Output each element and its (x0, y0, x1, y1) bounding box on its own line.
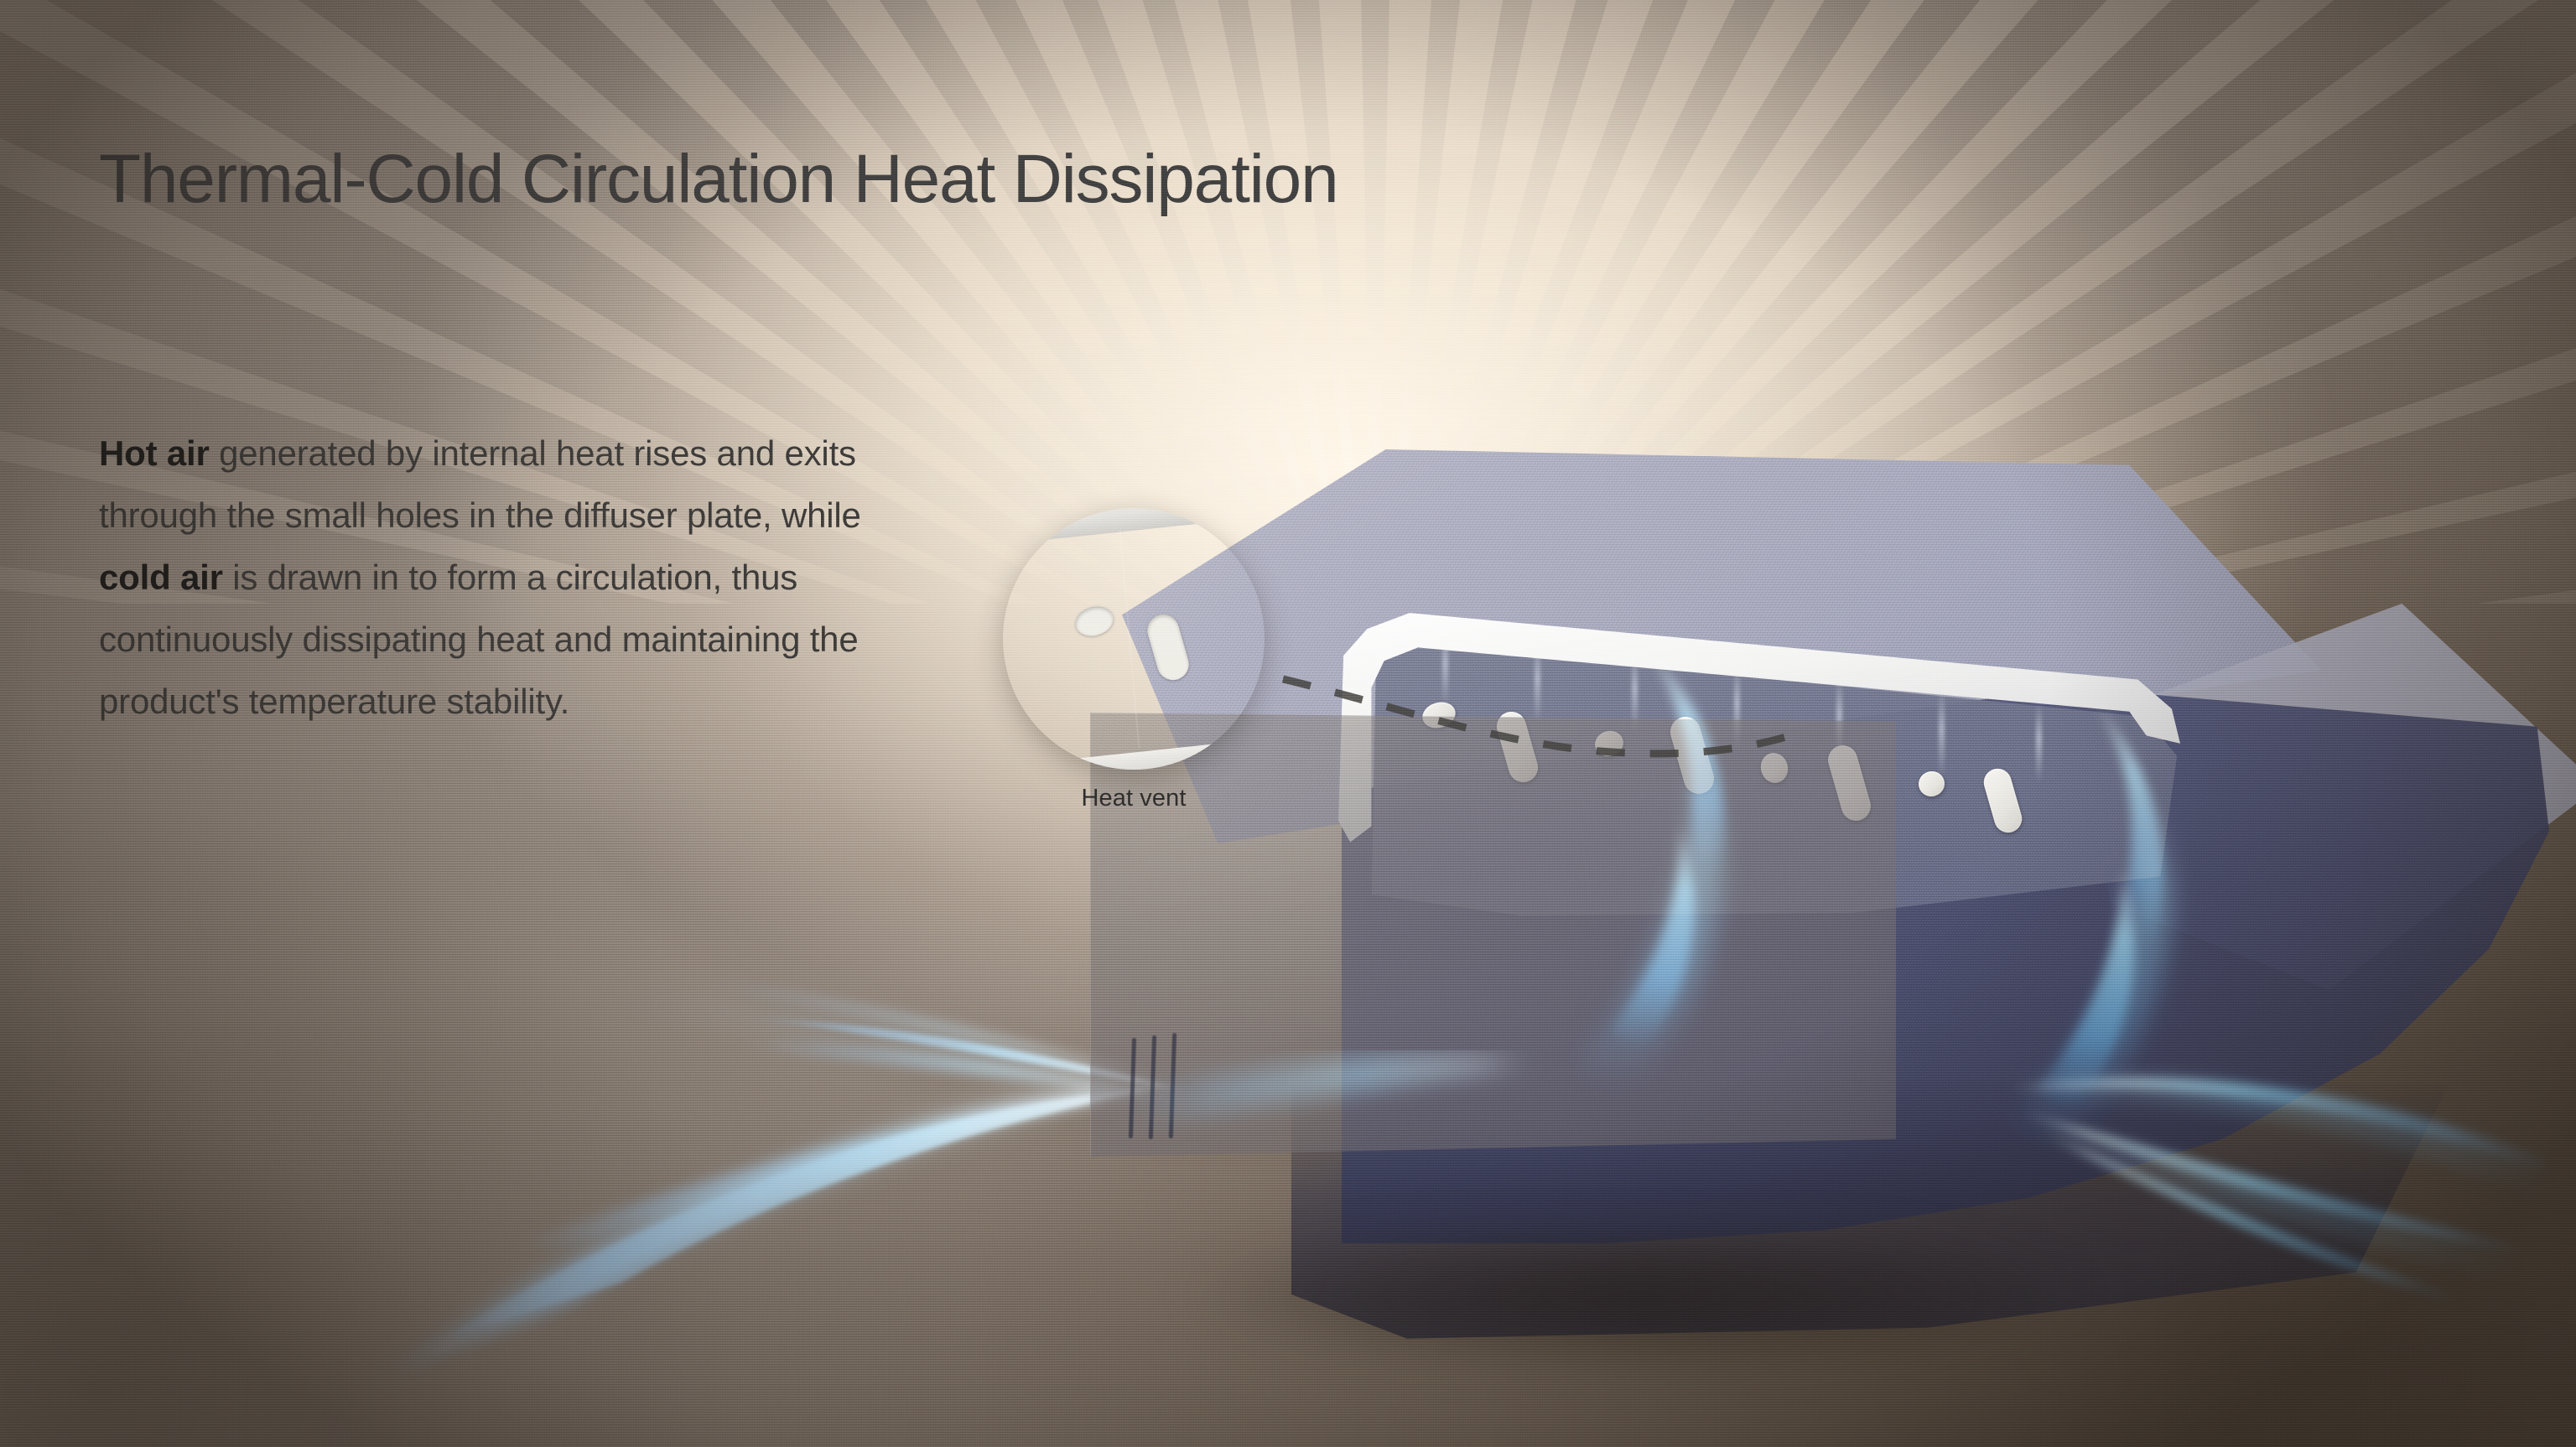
body-segment-1: generated by internal heat rises and exi… (99, 433, 861, 535)
heat-vent-callout[interactable]: Heat vent (1003, 508, 1265, 770)
callout-label: Heat vent (1003, 785, 1265, 812)
product-render (1090, 436, 2549, 1341)
product-front-face (1090, 713, 1896, 1157)
infographic-canvas: Heat vent Thermal-Cold Circulation Heat … (0, 0, 2576, 1447)
emphasis-hot-air: Hot air (99, 433, 210, 473)
callout-surface-texture (1003, 508, 1265, 770)
page-title: Thermal-Cold Circulation Heat Dissipatio… (99, 140, 1338, 219)
callout-magnifier-disc (1003, 508, 1265, 770)
product-floor-shadow (1040, 1232, 2231, 1442)
body-paragraph: Hot air generated by internal heat rises… (99, 423, 937, 733)
emphasis-cold-air: cold air (99, 558, 223, 597)
